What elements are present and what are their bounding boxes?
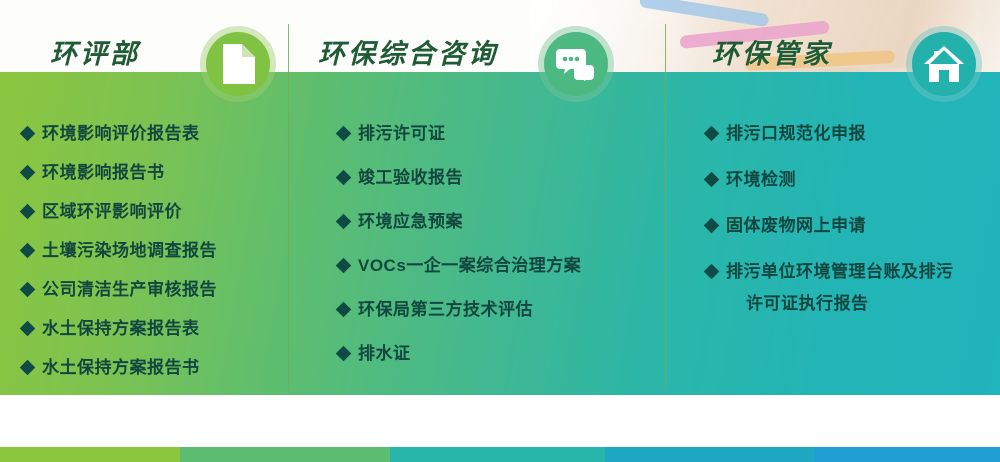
column-divider-2 (665, 24, 666, 390)
diamond-bullet-icon (20, 126, 36, 142)
list-item[interactable]: 排污单位环境管理台账及排污 许可证执行报告 (706, 260, 996, 316)
strip-block-1 (0, 447, 180, 462)
column-header-2: 环保综合咨询 (318, 26, 628, 84)
bottom-color-strip (0, 447, 1000, 462)
service-list-1: 环境影响评价报告表 环境影响报告书 区域环评影响评价 土壤污染场地调查报告 公司… (22, 122, 284, 395)
list-item[interactable]: 竣工验收报告 (338, 166, 658, 190)
list-item[interactable]: 环境影响报告书 (22, 161, 284, 185)
column-title-3: 环保管家 (712, 32, 832, 71)
column-title-1: 环评部 (50, 32, 140, 71)
list-item[interactable]: 环境应急预案 (338, 210, 658, 234)
strip-block-4 (605, 447, 815, 462)
column-badge-2[interactable] (538, 26, 614, 102)
list-item[interactable]: 环保局第三方技术评估 (338, 298, 658, 322)
list-item[interactable]: 环境影响评价报告表 (22, 122, 284, 146)
diamond-bullet-icon (20, 204, 36, 220)
column-title-2: 环保综合咨询 (318, 32, 498, 71)
diamond-bullet-icon (20, 321, 36, 337)
list-item[interactable]: 水土保持方案报告书 (22, 356, 284, 380)
column-badge-1[interactable] (200, 26, 276, 102)
diamond-bullet-icon (704, 218, 720, 234)
diamond-bullet-icon (20, 243, 36, 259)
list-item[interactable]: 排污许可证 (338, 122, 658, 146)
list-item[interactable]: 环境检测 (706, 168, 996, 192)
diamond-bullet-icon (20, 165, 36, 181)
diamond-bullet-icon (20, 360, 36, 376)
chat-bubbles-icon (556, 47, 596, 81)
service-list-3: 排污口规范化申报 环境检测 固体废物网上申请 排污单位环境管理台账及排污 许可证… (706, 122, 996, 338)
list-item[interactable]: 区域环评影响评价 (22, 200, 284, 224)
diamond-bullet-icon (336, 170, 352, 186)
home-icon (923, 45, 965, 83)
list-item[interactable]: VOCs一企一案综合治理方案 (338, 254, 658, 278)
service-list-2: 排污许可证 竣工验收报告 环境应急预案 VOCs一企一案综合治理方案 环保局第三… (338, 122, 658, 386)
strip-block-5 (815, 447, 1000, 462)
diamond-bullet-icon (704, 264, 720, 280)
diamond-bullet-icon (704, 172, 720, 188)
column-header-3: 环保管家 (712, 26, 1000, 84)
diamond-bullet-icon (336, 346, 352, 362)
list-item[interactable]: 水土保持方案报告表 (22, 317, 284, 341)
list-item-line2: 许可证执行报告 (726, 292, 996, 316)
column-header-1: 环评部 (44, 26, 324, 84)
column-badge-3[interactable] (906, 26, 982, 102)
list-item[interactable]: 公司清洁生产审核报告 (22, 278, 284, 302)
list-item[interactable]: 排水证 (338, 342, 658, 366)
diamond-bullet-icon (704, 126, 720, 142)
poster-root: 环评部 环保综合咨询 环保管家 (0, 0, 1000, 462)
list-item[interactable]: 土壤污染场地调查报告 (22, 239, 284, 263)
document-icon (221, 44, 255, 84)
list-item[interactable]: 排污口规范化申报 (706, 122, 996, 146)
diamond-bullet-icon (20, 282, 36, 298)
strip-block-3 (390, 447, 605, 462)
diamond-bullet-icon (336, 214, 352, 230)
strip-block-2 (180, 447, 390, 462)
list-item-line1: 排污单位环境管理台账及排污 (726, 262, 954, 281)
list-item[interactable]: 固体废物网上申请 (706, 214, 996, 238)
diamond-bullet-icon (336, 258, 352, 274)
diamond-bullet-icon (336, 302, 352, 318)
diamond-bullet-icon (336, 126, 352, 142)
